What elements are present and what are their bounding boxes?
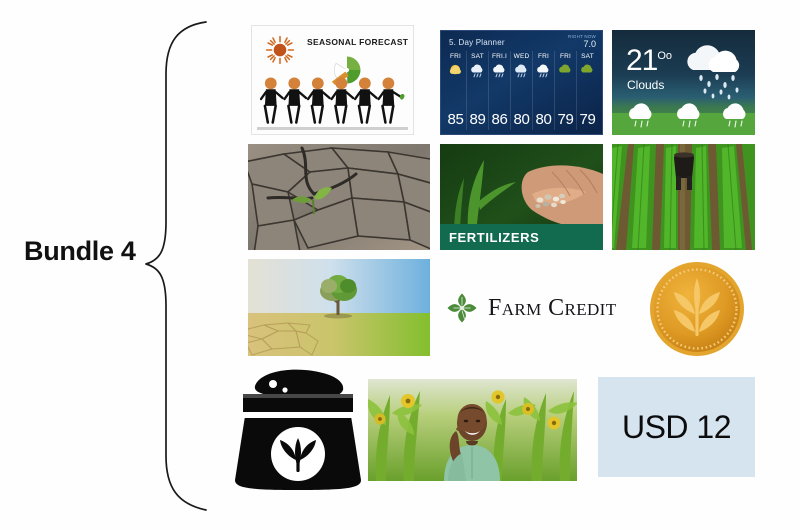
planner-temp: 80 — [536, 111, 552, 128]
planner-day-column[interactable]: SAT 79 — [577, 51, 598, 130]
degree-symbol: Oo — [657, 50, 672, 62]
farmers-walking-icon — [260, 76, 407, 124]
planner-day-label: FRI — [560, 53, 571, 60]
planner-now-value: 7.0 — [568, 40, 596, 49]
planner-day-column[interactable]: SAT 89 — [467, 51, 489, 130]
rain-cloud-icon — [469, 63, 487, 79]
fertilizers-caption: FERTILIZERS — [440, 230, 539, 245]
ground-clouds-icon — [612, 103, 755, 135]
planner-day-label: SAT — [581, 53, 594, 60]
planner-title: 5. Day Planner — [449, 38, 505, 47]
rain-cloud-icon — [491, 63, 509, 79]
seasonal-forecast-baseline — [257, 127, 408, 130]
seasonal-forecast-title: SEASONAL FORECAST — [307, 37, 408, 47]
planner-day-column[interactable]: FRI 79 — [555, 51, 577, 130]
field-sensor-photo — [612, 144, 755, 250]
rain-cloud-icon — [513, 63, 531, 79]
cracked-soil-tile[interactable] — [248, 144, 430, 250]
field-sensor-tile[interactable] — [612, 144, 755, 250]
current-temperature: 21Oo — [626, 46, 672, 76]
green-cloud-icon — [557, 63, 575, 79]
farmer-photo — [368, 379, 577, 481]
five-day-planner-tile[interactable]: 5. Day Planner RIGHT NOW 7.0 FRI 85 SAT — [440, 30, 603, 135]
current-weather-tile[interactable]: 21Oo Clouds — [612, 30, 755, 135]
gold-coin-icon — [648, 260, 746, 358]
sun-cloud-icon — [447, 63, 465, 79]
planner-temp: 79 — [580, 111, 596, 128]
sun-icon — [266, 36, 294, 64]
farm-credit-wordmark: Farm Credit — [488, 295, 617, 322]
planner-temp: 85 — [448, 111, 464, 128]
planner-temp: 80 — [514, 111, 530, 128]
current-temperature-value: 21 — [626, 44, 657, 77]
gold-coin-tile[interactable] — [648, 260, 746, 358]
price-tile[interactable]: USD 12 — [598, 377, 755, 477]
rain-cloud-icon — [535, 63, 553, 79]
planner-day-label: FRI.I — [492, 53, 507, 60]
planner-temp: 86 — [492, 111, 508, 128]
planner-temp: 79 — [558, 111, 574, 128]
current-condition: Clouds — [627, 78, 664, 92]
seasonal-forecast-tile[interactable]: SEASONAL FORECAST — [251, 25, 414, 135]
cracked-soil-photo — [248, 144, 430, 250]
climate-change-photo — [248, 259, 430, 356]
curly-brace — [140, 16, 210, 516]
climate-change-tile[interactable] — [248, 259, 430, 356]
planner-day-column[interactable]: FRI 85 — [445, 51, 467, 130]
planner-now-readout: RIGHT NOW 7.0 — [568, 35, 596, 49]
planner-day-column[interactable]: WED 80 — [511, 51, 533, 130]
planner-day-column[interactable]: FRI.I 86 — [489, 51, 511, 130]
bundle-label: Bundle 4 — [24, 236, 136, 267]
green-cloud-icon — [579, 63, 597, 79]
price-value: USD 12 — [622, 409, 731, 446]
seed-bag-icon — [229, 368, 366, 492]
planner-day-label: WED — [514, 53, 530, 60]
planner-temp: 89 — [470, 111, 486, 128]
clover-leaf-icon — [445, 291, 479, 325]
planner-day-label: SAT — [471, 53, 484, 60]
fertilizers-caption-band: FERTILIZERS — [440, 224, 603, 250]
bundle-canvas: Bundle 4 SEASONAL FORECAST — [0, 0, 800, 530]
farm-credit-tile[interactable]: Farm Credit — [445, 282, 645, 334]
seed-bag-tile[interactable] — [229, 368, 366, 492]
planner-day-label: FRI — [450, 53, 461, 60]
planner-day-label: FRI — [538, 53, 549, 60]
farmer-tile[interactable] — [368, 379, 577, 481]
rain-cloud-icon — [679, 42, 751, 100]
fertilizers-tile[interactable]: FERTILIZERS — [440, 144, 603, 250]
planner-day-grid: FRI 85 SAT 89 FRI.I — [445, 51, 598, 130]
planner-day-column[interactable]: FRI 80 — [533, 51, 555, 130]
